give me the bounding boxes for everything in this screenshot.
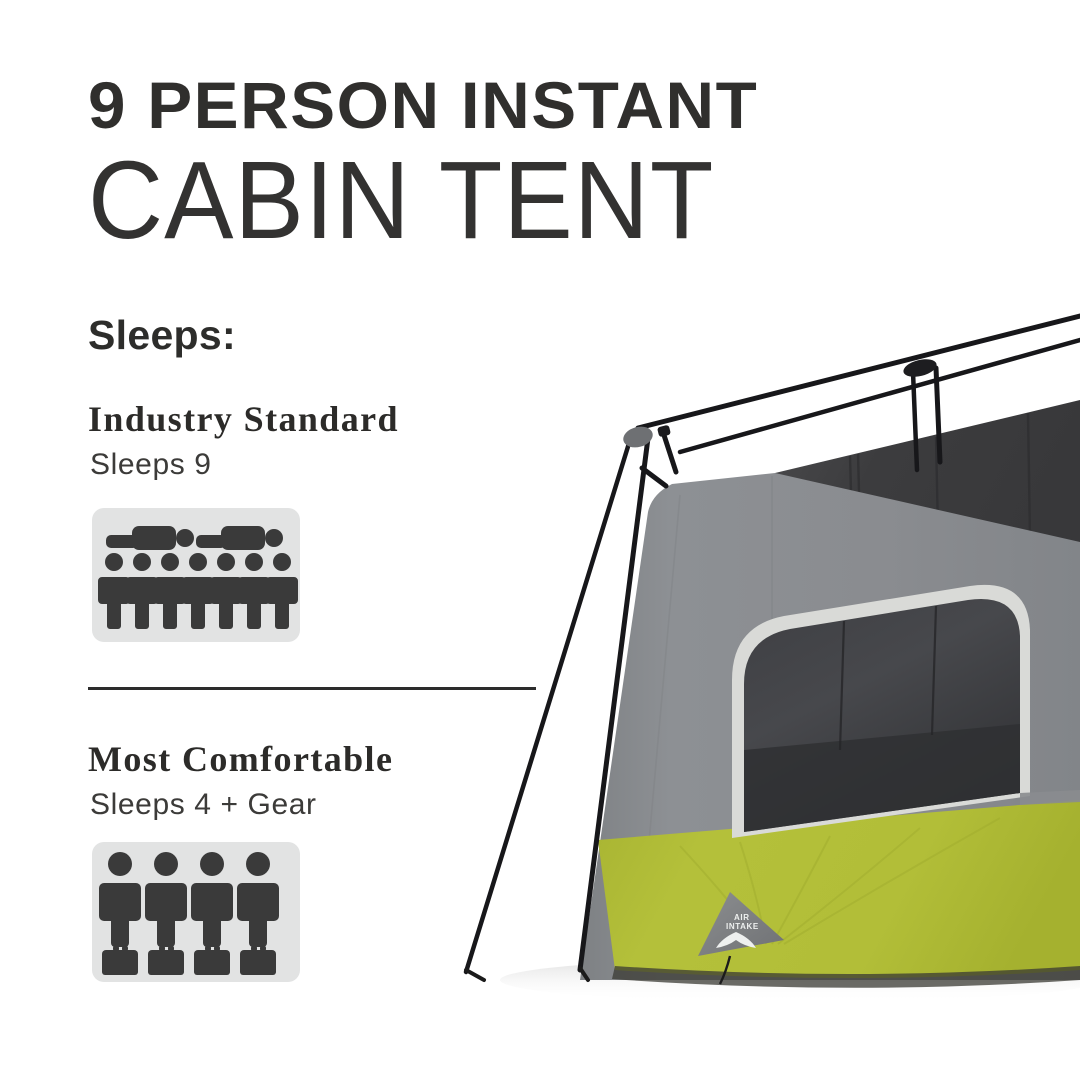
pole-clip-left [657,425,671,438]
title-line-1: 9 PERSON INSTANT [88,72,924,138]
pole-upright-a [663,432,676,472]
spec-title-industry-standard: Industry Standard [88,398,399,440]
spec-subtitle-sleeps-9: Sleeps 9 [90,448,212,482]
sleeps-heading: Sleeps: [88,312,236,359]
four-sleepers-with-gear-icon [92,842,300,982]
svg-text:AIR: AIR [734,913,750,922]
svg-text:INTAKE: INTAKE [726,922,759,931]
pole-upright-b [642,468,666,486]
spec-title-most-comfortable: Most Comfortable [88,738,393,780]
infographic-page: 9 PERSON INSTANT CABIN TENT Sleeps: Indu… [0,0,1080,1080]
instant-cabin-tent-photo: AIR INTAKE [380,280,1080,1080]
spec-subtitle-sleeps-4-gear: Sleeps 4 + Gear [90,788,317,822]
page-title: 9 PERSON INSTANT CABIN TENT [88,72,908,250]
pole-hub-connectors [621,356,939,450]
title-line-2: CABIN TENT [88,146,908,256]
pole-ridge-beam [638,316,1080,428]
nine-sleepers-icon [92,508,300,642]
